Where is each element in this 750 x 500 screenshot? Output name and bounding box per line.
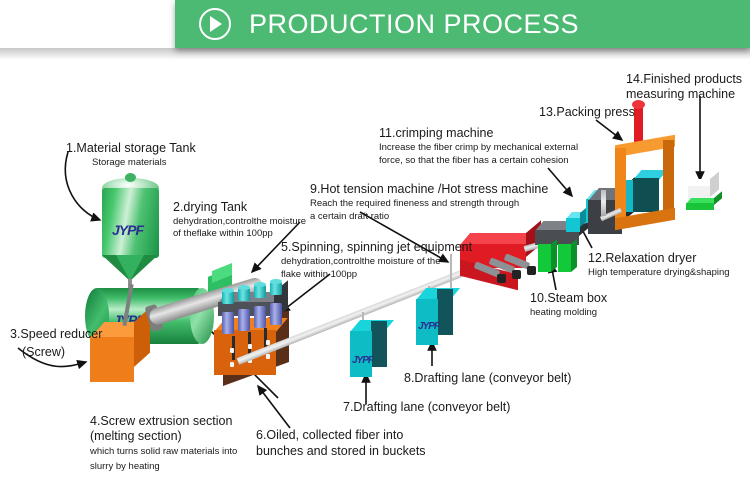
material-storage-tank-body: JYPF <box>102 188 159 258</box>
label-step-4-sub-1: which turns solid raw materials into <box>90 446 237 458</box>
play-circle-icon <box>199 8 231 40</box>
spinneret-cylinder <box>238 309 250 331</box>
label-step-1-sub-1: Storage materials <box>92 157 166 169</box>
label-step-9-title: 9.Hot tension machine /Hot stress machin… <box>310 182 548 197</box>
label-step-2-sub-2: of theflake within 100pp <box>173 228 273 240</box>
page-title: PRODUCTION PROCESS <box>249 9 579 40</box>
crimping-inlet-front <box>566 218 580 232</box>
tension-roller-cap <box>527 266 536 275</box>
measuring-platform-side <box>714 191 722 205</box>
page-banner: PRODUCTION PROCESS <box>175 0 750 48</box>
brand-logo: JYPF <box>352 355 373 366</box>
label-step-3-sub-1: (Screw) <box>22 345 65 360</box>
material-storage-tank-cone-light <box>116 255 144 281</box>
steam-box-heater <box>538 244 551 272</box>
production-process-diagram: PRODUCTION PROCESS <box>0 0 750 500</box>
label-step-14-title: 14.Finished products <box>626 72 742 87</box>
spinneret-cylinder <box>254 306 266 328</box>
measuring-platform-front <box>686 203 714 210</box>
packing-press-feed-post <box>601 190 606 216</box>
spinneret-cap-top <box>254 282 266 287</box>
label-step-4-title2: (melting section) <box>90 429 182 444</box>
spinneret-cylinder <box>222 312 234 334</box>
rack-roller <box>266 354 270 359</box>
spinneret-cap-top <box>222 288 234 293</box>
label-step-14-title2: measuring machine <box>626 87 735 102</box>
rack-roller <box>230 348 234 353</box>
packing-press-right-column <box>663 140 674 216</box>
label-step-2-sub-1: dehydration,controlthe moisture <box>173 216 306 228</box>
label-step-13-title: 13.Packing press <box>539 105 635 120</box>
steam-box-heater-side <box>571 239 577 272</box>
label-step-12-title: 12.Relaxation dryer <box>588 251 696 266</box>
banner-shadow <box>0 48 750 60</box>
label-step-4-title: 4.Screw extrusion section <box>90 414 232 429</box>
label-step-6-title: 6.Oiled, collected fiber into <box>256 428 403 443</box>
drafting-bucket-7-front: JYPF <box>350 331 372 377</box>
label-step-8-title: 8.Drafting lane (conveyor belt) <box>404 371 571 386</box>
rack-roller <box>230 362 234 367</box>
tension-roller-cap <box>497 274 506 283</box>
label-step-12-sub-1: High temperature drying&shaping <box>588 267 730 279</box>
packing-press-bale <box>633 178 659 212</box>
label-step-10-title: 10.Steam box <box>530 291 607 306</box>
label-step-10-sub-1: heating molding <box>530 307 597 319</box>
label-step-6-title2: bunches and stored in buckets <box>256 444 426 459</box>
label-step-4-sub-2: slurry by heating <box>90 461 160 473</box>
tension-roller-cap <box>512 270 521 279</box>
speed-reducer-front <box>90 337 134 382</box>
material-storage-tank-vent <box>125 173 136 182</box>
label-step-5-sub-1: dehydration,controlthe moisture of the <box>281 256 440 268</box>
label-step-11-sub-1: Increase the fiber crimp by mechanical e… <box>379 142 578 154</box>
spinneret-cap-top <box>238 285 250 290</box>
drafting-bucket-8-front: JYPF <box>416 299 438 345</box>
spinneret-cylinder <box>270 303 282 325</box>
label-step-9-sub-2: a certain draft ratio <box>310 211 389 223</box>
steam-box-heater-side <box>551 239 557 272</box>
label-step-11-sub-2: force, so that the fiber has a certain c… <box>379 155 569 167</box>
label-step-7-title: 7.Drafting lane (conveyor belt) <box>343 400 510 415</box>
drafting-bucket-8-side <box>437 289 453 335</box>
brand-logo: JYPF <box>112 222 143 238</box>
label-step-5-title: 5.Spinning, spinning jet equipment <box>281 240 472 255</box>
rack-roller <box>248 344 252 349</box>
drafting-bucket-7-side <box>371 321 387 367</box>
label-step-9-sub-1: Reach the required fineness and strength… <box>310 198 519 210</box>
label-step-2-title: 2.drying Tank <box>173 200 247 215</box>
steam-box-heater <box>558 244 571 272</box>
label-step-1-title: 1.Material storage Tank <box>66 141 196 156</box>
label-step-11-title: 11.crimping machine <box>379 126 493 141</box>
label-step-5-sub-2: flake within 100pp <box>281 269 357 281</box>
label-step-3-title: 3.Speed reducer <box>10 327 102 342</box>
brand-logo: JYPF <box>418 321 439 332</box>
